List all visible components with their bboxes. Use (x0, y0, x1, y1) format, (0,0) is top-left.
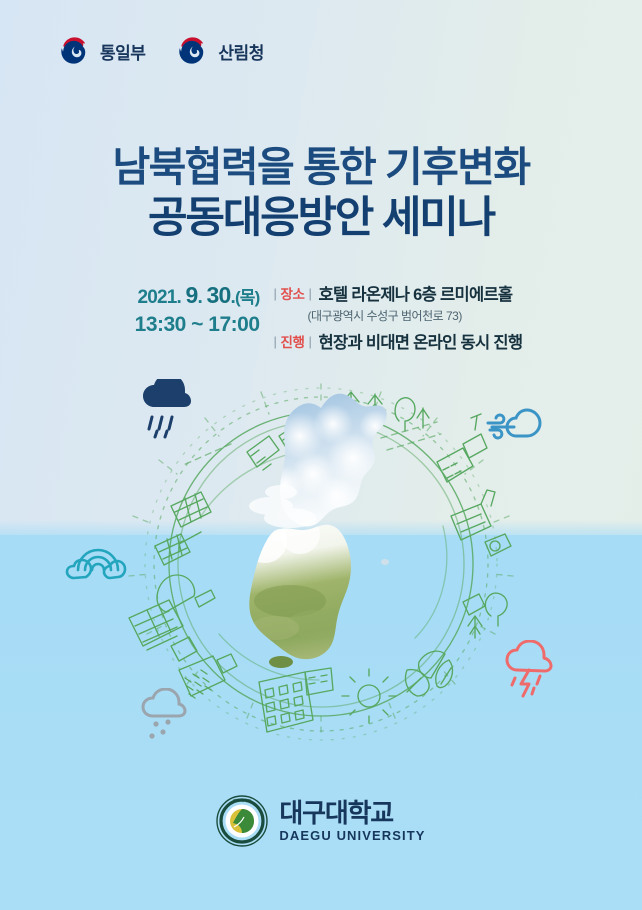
taegeuk-icon (173, 33, 209, 69)
venue-value: 호텔 라온제나 6층 르미에르홀 (319, 281, 513, 305)
divider-bar-left: | (274, 334, 277, 349)
venue-label-group: | 장소 | (274, 283, 312, 303)
university-name-korean: 대구대학교 (279, 800, 425, 826)
wind-cloud-icon (486, 402, 550, 444)
event-date-day: 30 (206, 282, 230, 308)
title-line-1: 남북협력을 통한 기후변화 (0, 143, 642, 191)
event-date-weekday: (목) (235, 288, 260, 307)
divider-bar-left: | (274, 286, 277, 301)
jeju-island (269, 656, 293, 668)
divider-bar-right: | (309, 286, 312, 301)
taegeuk-icon (55, 33, 91, 69)
mode-value: 현장과 비대면 온라인 동시 진행 (319, 329, 523, 353)
ring-city-left (129, 600, 197, 661)
logo-label-unification: 통일부 (100, 39, 145, 64)
ring-tower-left (157, 575, 215, 612)
rainbow-cloud-icon (62, 532, 134, 580)
south-korea-region (215, 514, 415, 686)
poster-canvas: 통일부 산림청 남북협력을 통한 기후변화 공동대응방안 세미나 2021. 9… (0, 0, 642, 910)
event-date-month: 9 (186, 282, 198, 308)
mode-label-group: | 진행 | (274, 331, 312, 351)
event-datetime: 2021. 9. 30.(목) 13:30 ~ 17:00 (99, 281, 274, 353)
event-date: 2021. 9. 30.(목) (99, 281, 260, 311)
snow-cloud-icon (138, 688, 196, 744)
logo-label-forest-service: 산림청 (218, 39, 263, 64)
venue-address: (대구광역시 수성구 범어천로 73) (308, 307, 544, 324)
logo-ministry-of-unification: 통일부 (55, 33, 145, 69)
daegu-university-emblem-icon: 대 구 대 학 교 (216, 795, 268, 847)
venue-row: | 장소 | 호텔 라온제나 6층 르미에르홀 (274, 281, 544, 305)
event-time: 13:30 ~ 17:00 (99, 311, 260, 339)
university-name-block: 대구대학교 DAEGU UNIVERSITY (279, 800, 425, 842)
ring-buildings-topright (437, 414, 487, 482)
ring-factory-right (451, 490, 511, 556)
ulleung-island (381, 559, 389, 565)
rain-cloud-icon (138, 379, 194, 439)
event-venue-details: | 장소 | 호텔 라온제나 6층 르미에르홀 (대구광역시 수성구 범어천로 … (274, 281, 544, 353)
ring-trees-right (463, 593, 507, 638)
mode-row: | 진행 | 현장과 비대면 온라인 동시 진행 (274, 329, 544, 353)
svg-text:대 구 대 학 교: 대 구 대 학 교 (234, 798, 252, 803)
poster-title: 남북협력을 통한 기후변화 공동대응방안 세미나 (0, 143, 642, 244)
event-date-year: 2021. (137, 287, 185, 308)
mode-label: 진행 (280, 331, 304, 351)
ring-sun-icon (342, 669, 396, 723)
divider-bar-right: | (309, 334, 312, 349)
university-name-english: DAEGU UNIVERSITY (279, 829, 425, 842)
venue-label: 장소 (280, 283, 304, 303)
government-logo-row: 통일부 산림청 (55, 33, 264, 69)
university-footer: 대 구 대 학 교 대구대학교 DAEGU UNIVERSITY (0, 795, 642, 847)
event-info-block: 2021. 9. 30.(목) 13:30 ~ 17:00 | 장소 | 호텔 … (0, 281, 642, 353)
logo-korea-forest-service: 산림청 (173, 33, 263, 69)
thunderstorm-icon (502, 640, 558, 698)
title-line-2: 공동대응방안 세미나 (0, 193, 642, 244)
